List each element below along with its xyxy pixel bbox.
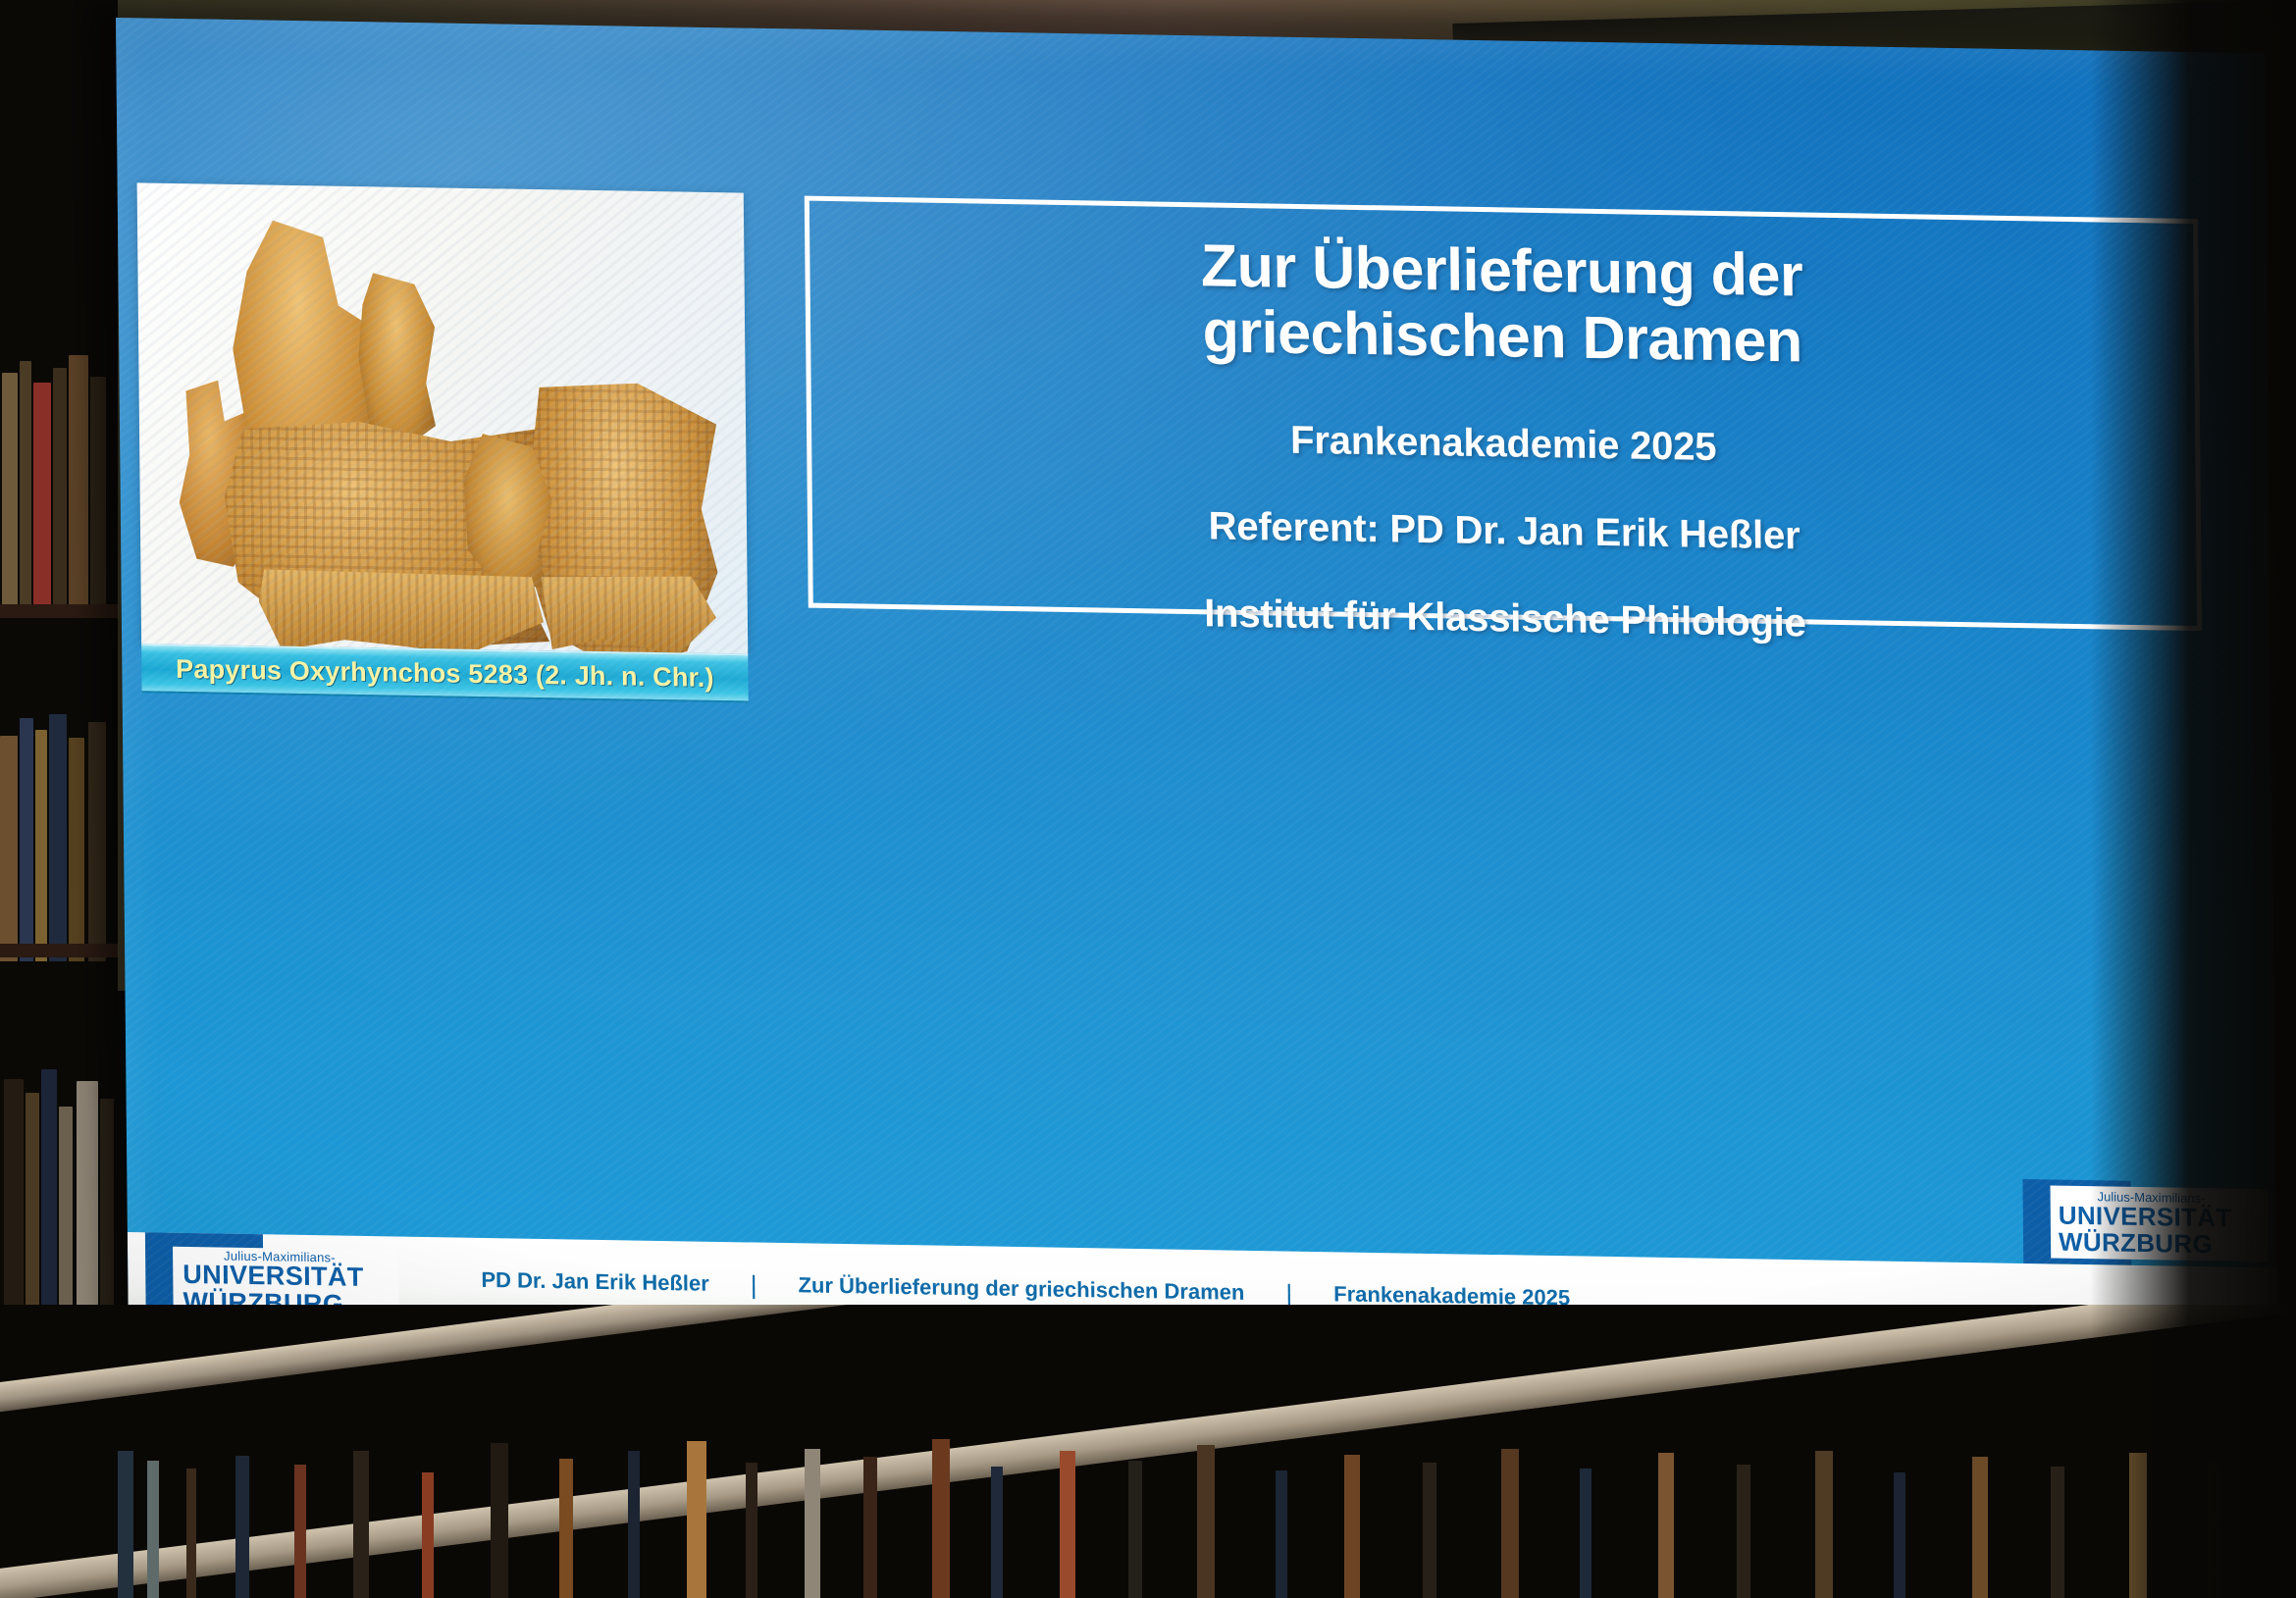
bottom-bookshelf <box>0 1305 2296 1598</box>
figure-caption-text: Papyrus Oxyrhynchos 5283 (2. Jh. n. Chr.… <box>176 653 714 693</box>
footer-speaker: PD Dr. Jan Erik Heßler <box>481 1267 709 1297</box>
photo-of-projected-slide: Papyrus Oxyrhynchos 5283 (2. Jh. n. Chr.… <box>0 0 2296 1598</box>
room-shadow-right <box>2090 0 2296 1598</box>
figure-caption-band: Papyrus Oxyrhynchos 5283 (2. Jh. n. Chr.… <box>141 644 749 702</box>
footer-title: Zur Überlieferung der griechischen Drame… <box>798 1272 1244 1306</box>
title-box: Zur Überlieferung der griechischen Drame… <box>805 196 2202 632</box>
papyrus-figure <box>137 182 749 653</box>
footer-separator-1: | <box>751 1269 757 1300</box>
presentation-slide: Papyrus Oxyrhynchos 5283 (2. Jh. n. Chr.… <box>116 18 2277 1358</box>
